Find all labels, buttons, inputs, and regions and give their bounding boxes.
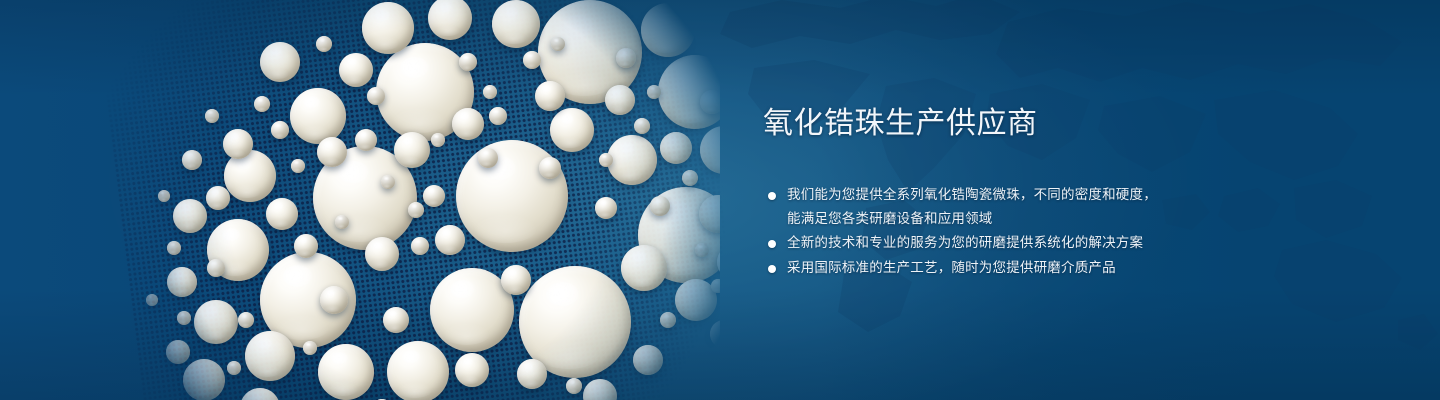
ceramic-bead xyxy=(320,286,348,314)
hero-banner: 氧化锆珠生产供应商 我们能为您提供全系列氧化锆陶瓷微珠，不同的密度和硬度，能满足… xyxy=(0,0,1440,400)
ceramic-bead xyxy=(682,170,698,186)
feature-bullet-line: 我们能为您提供全系列氧化锆陶瓷微珠，不同的密度和硬度， xyxy=(787,184,1323,208)
feature-bullet: 我们能为您提供全系列氧化锆陶瓷微珠，不同的密度和硬度，能满足您各类研磨设备和应用… xyxy=(763,184,1323,231)
ceramic-bead xyxy=(452,108,484,140)
ceramic-bead xyxy=(647,85,661,99)
bullet-dot-icon xyxy=(768,192,776,200)
ceramic-bead xyxy=(641,3,695,57)
ceramic-bead xyxy=(355,129,377,151)
ceramic-bead xyxy=(650,196,670,216)
ceramic-bead xyxy=(254,96,270,112)
ceramic-bead xyxy=(408,202,424,218)
ceramic-bead xyxy=(291,159,305,173)
bullet-dot-icon xyxy=(768,265,776,273)
ceramic-bead xyxy=(394,132,430,168)
ceramic-bead xyxy=(194,300,238,344)
ceramic-bead xyxy=(633,345,663,375)
ceramic-bead xyxy=(459,53,477,71)
ceramic-bead xyxy=(539,157,561,179)
page-title: 氧化锆珠生产供应商 xyxy=(763,108,1323,140)
ceramic-bead xyxy=(551,37,565,51)
ceramic-bead xyxy=(227,361,241,375)
ceramic-bead xyxy=(245,331,295,381)
ceramic-bead xyxy=(621,245,667,291)
feature-bullet-line: 全新的技术和专业的服务为您的研磨提供系统化的解决方案 xyxy=(787,232,1323,256)
banner-copy: 氧化锆珠生产供应商 我们能为您提供全系列氧化锆陶瓷微珠，不同的密度和硬度，能满足… xyxy=(763,108,1323,281)
ceramic-bead xyxy=(660,312,676,328)
ceramic-bead xyxy=(566,378,582,394)
ceramic-bead xyxy=(428,0,472,40)
ceramic-bead xyxy=(431,133,445,147)
ceramic-bead xyxy=(605,85,635,115)
ceramic-bead xyxy=(303,341,317,355)
ceramic-bead xyxy=(290,88,346,144)
feature-bullet: 采用国际标准的生产工艺，随时为您提供研磨介质产品 xyxy=(763,257,1323,281)
ceramic-bead xyxy=(207,259,225,277)
ceramic-bead xyxy=(483,85,497,99)
ceramic-bead xyxy=(238,312,254,328)
ceramic-bead xyxy=(607,135,657,185)
ceramic-bead xyxy=(317,137,347,167)
ceramic-bead xyxy=(362,2,414,54)
ceramic-bead xyxy=(182,150,202,170)
ceramic-bead xyxy=(260,42,300,82)
ceramic-bead xyxy=(387,341,449,400)
ceramic-bead xyxy=(616,48,636,68)
feature-bullet-line: 能满足您各类研磨设备和应用领域 xyxy=(787,208,1323,232)
ceramic-bead xyxy=(411,237,429,255)
ceramic-bead xyxy=(223,129,253,159)
bead-cluster xyxy=(120,0,720,400)
ceramic-bead xyxy=(365,237,399,271)
ceramic-bead xyxy=(177,311,191,325)
ceramic-bead xyxy=(583,379,617,400)
ceramic-bead xyxy=(523,51,541,69)
ceramic-bead xyxy=(205,109,219,123)
ceramic-bead xyxy=(381,175,395,189)
ceramic-bead xyxy=(166,340,190,364)
ceramic-bead xyxy=(167,267,197,297)
ceramic-bead xyxy=(535,81,565,111)
ceramic-bead xyxy=(634,118,650,134)
ceramic-bead xyxy=(339,53,373,87)
ceramic-bead xyxy=(501,265,531,295)
ceramic-bead xyxy=(173,199,207,233)
ceramic-bead xyxy=(599,153,613,167)
ceramic-bead xyxy=(660,132,692,164)
feature-bullet-list: 我们能为您提供全系列氧化锆陶瓷微珠，不同的密度和硬度，能满足您各类研磨设备和应用… xyxy=(763,184,1323,280)
ceramic-bead xyxy=(489,107,507,125)
ceramic-bead xyxy=(266,198,298,230)
ceramic-bead xyxy=(517,359,547,389)
ceramic-bead xyxy=(492,0,540,48)
ceramic-bead xyxy=(367,87,385,105)
ceramic-bead xyxy=(240,388,280,400)
feature-bullet-line: 采用国际标准的生产工艺，随时为您提供研磨介质产品 xyxy=(787,257,1323,281)
ceramic-bead xyxy=(435,225,465,255)
zirconia-beads-image xyxy=(120,0,720,400)
ceramic-bead xyxy=(335,215,349,229)
ceramic-bead xyxy=(478,148,498,168)
ceramic-bead xyxy=(595,197,617,219)
ceramic-bead xyxy=(146,294,158,306)
ceramic-bead xyxy=(423,185,445,207)
ceramic-bead xyxy=(183,359,225,400)
ceramic-bead xyxy=(271,121,289,139)
ceramic-bead xyxy=(294,234,318,258)
ceramic-bead xyxy=(318,344,374,400)
bullet-dot-icon xyxy=(768,240,776,248)
ceramic-bead xyxy=(158,190,170,202)
ceramic-bead xyxy=(695,243,709,257)
ceramic-bead xyxy=(383,307,409,333)
ceramic-bead xyxy=(550,108,594,152)
ceramic-bead xyxy=(206,186,230,210)
feature-bullet: 全新的技术和专业的服务为您的研磨提供系统化的解决方案 xyxy=(763,232,1323,256)
ceramic-bead xyxy=(455,353,489,387)
ceramic-bead xyxy=(316,36,332,52)
ceramic-bead xyxy=(167,241,181,255)
